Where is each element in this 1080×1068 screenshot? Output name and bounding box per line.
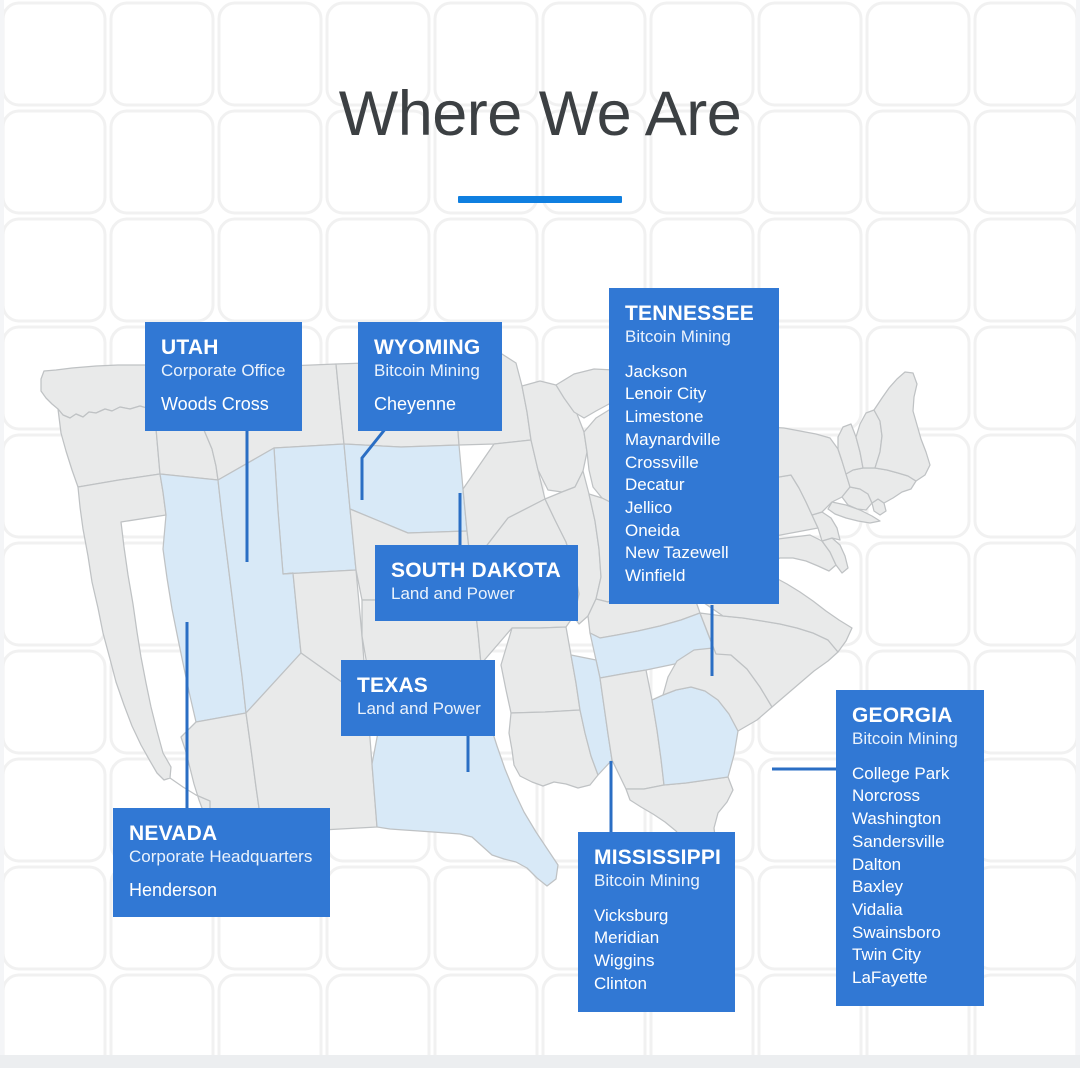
slide-canvas: Where We Are UTAH Corporate Office Woods… [0, 0, 1080, 1068]
city-item: Meridian [594, 927, 719, 950]
callout-state-name: SOUTH DAKOTA [391, 559, 562, 583]
city-item: Twin City [852, 944, 968, 967]
city-item: Henderson [129, 879, 314, 902]
callout-subtitle: Bitcoin Mining [625, 327, 763, 347]
callout-city-list: Cheyenne [374, 393, 486, 416]
callout-city-list: Vicksburg Meridian Wiggins Clinton [594, 905, 719, 996]
city-item: New Tazewell [625, 542, 763, 565]
callout-subtitle: Corporate Headquarters [129, 847, 314, 867]
city-item: Vicksburg [594, 905, 719, 928]
callout-tennessee[interactable]: TENNESSEE Bitcoin Mining Jackson Lenoir … [609, 288, 779, 604]
state-arkansas [501, 627, 580, 713]
city-item: College Park [852, 763, 968, 786]
city-item: Norcross [852, 785, 968, 808]
city-item: Sandersville [852, 831, 968, 854]
city-item: Woods Cross [161, 393, 286, 416]
page-title: Where We Are [0, 80, 1080, 148]
title-accent-rule [458, 196, 622, 203]
title-block: Where We Are [0, 80, 1080, 203]
callout-utah[interactable]: UTAH Corporate Office Woods Cross [145, 322, 302, 431]
callout-mississippi[interactable]: MISSISSIPPI Bitcoin Mining Vicksburg Mer… [578, 832, 735, 1012]
city-item: Decatur [625, 474, 763, 497]
city-item: Clinton [594, 973, 719, 996]
callout-wyoming[interactable]: WYOMING Bitcoin Mining Cheyenne [358, 322, 502, 431]
city-item: Crossville [625, 452, 763, 475]
city-item: Wiggins [594, 950, 719, 973]
callout-subtitle: Bitcoin Mining [852, 729, 968, 749]
callout-state-name: NEVADA [129, 822, 314, 846]
city-item: Winfield [625, 565, 763, 588]
callout-state-name: UTAH [161, 336, 286, 360]
callout-subtitle: Land and Power [391, 584, 562, 604]
city-item: Vidalia [852, 899, 968, 922]
state-california [78, 474, 171, 780]
callout-state-name: MISSISSIPPI [594, 846, 719, 870]
city-item: Oneida [625, 520, 763, 543]
city-item: Limestone [625, 406, 763, 429]
state-wyoming [274, 444, 356, 574]
city-item: Lenoir City [625, 383, 763, 406]
city-item: Swainsboro [852, 922, 968, 945]
callout-city-list: College Park Norcross Washington Sanders… [852, 763, 968, 990]
callout-city-list: Jackson Lenoir City Limestone Maynardvil… [625, 361, 763, 588]
city-item: Dalton [852, 854, 968, 877]
callout-state-name: GEORGIA [852, 704, 968, 728]
city-item: Jellico [625, 497, 763, 520]
state-alabama [600, 670, 664, 789]
callout-nevada[interactable]: NEVADA Corporate Headquarters Henderson [113, 808, 330, 917]
callout-texas[interactable]: TEXAS Land and Power [341, 660, 495, 736]
callout-georgia[interactable]: GEORGIA Bitcoin Mining College Park Norc… [836, 690, 984, 1006]
callout-subtitle: Corporate Office [161, 361, 286, 381]
callout-state-name: TENNESSEE [625, 302, 763, 326]
callout-state-name: WYOMING [374, 336, 486, 360]
callout-subtitle: Bitcoin Mining [594, 871, 719, 891]
callout-city-list: Woods Cross [161, 393, 286, 416]
city-item: Cheyenne [374, 393, 486, 416]
bottom-strip [0, 1055, 1080, 1068]
city-item: LaFayette [852, 967, 968, 990]
callout-state-name: TEXAS [357, 674, 479, 698]
state-maine [874, 372, 930, 481]
callout-south-dakota[interactable]: SOUTH DAKOTA Land and Power [375, 545, 578, 621]
callout-subtitle: Land and Power [357, 699, 479, 719]
city-item: Washington [852, 808, 968, 831]
callout-city-list: Henderson [129, 879, 314, 902]
city-item: Jackson [625, 361, 763, 384]
city-item: Maynardville [625, 429, 763, 452]
city-item: Baxley [852, 876, 968, 899]
callout-subtitle: Bitcoin Mining [374, 361, 486, 381]
